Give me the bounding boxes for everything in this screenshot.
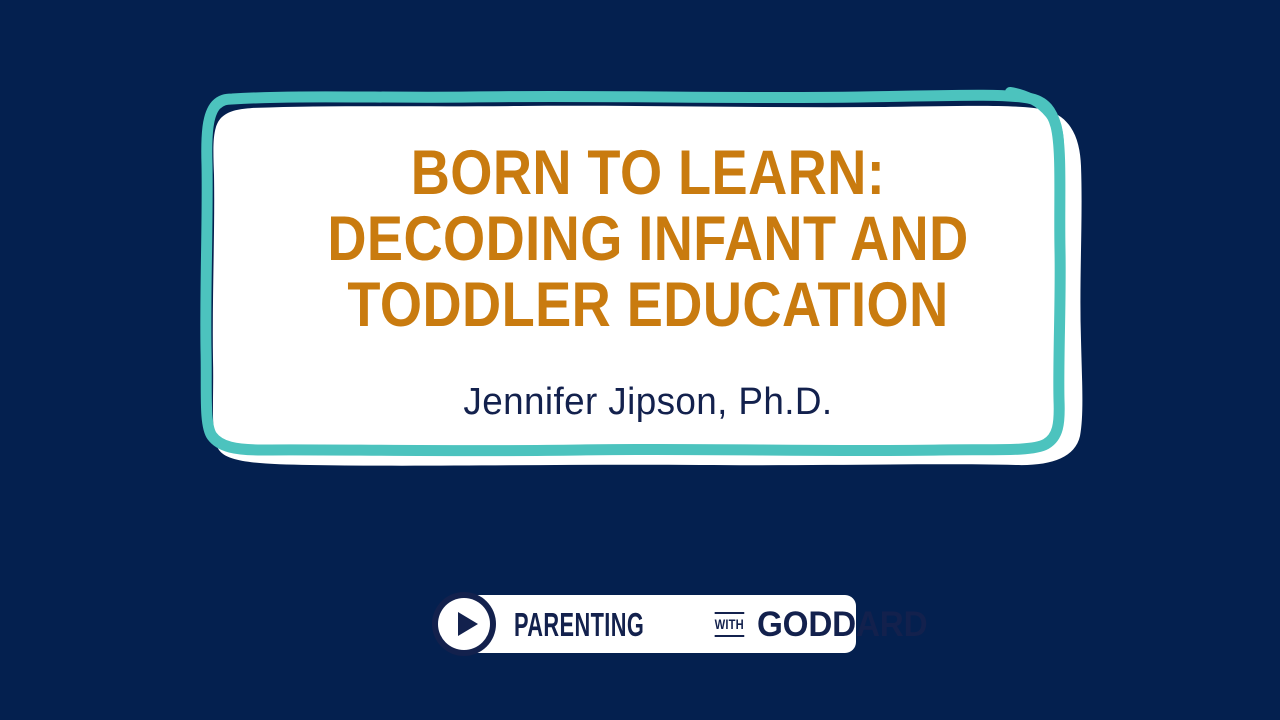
title-line-1: BORN TO LEARN:: [276, 140, 1019, 206]
play-icon: [432, 592, 496, 656]
logo-wordmark: PARENTING WITH GODDARD: [514, 592, 936, 656]
speaker-name: Jennifer Jipson, Ph.D.: [229, 380, 1067, 424]
brand-logo: PARENTING WITH GODDARD: [432, 592, 856, 656]
logo-word-goddard: GODDARD: [757, 607, 927, 642]
title-line-2: DECODING INFANT AND: [276, 206, 1019, 272]
title-line-3: TODDLER EDUCATION: [276, 272, 1019, 338]
presentation-title-slide: BORN TO LEARN: DECODING INFANT AND TODDL…: [0, 0, 1280, 720]
logo-word-parenting: PARENTING: [514, 608, 638, 641]
logo-word-with: WITH: [715, 612, 744, 637]
title-block: BORN TO LEARN: DECODING INFANT AND TODDL…: [216, 120, 1080, 424]
